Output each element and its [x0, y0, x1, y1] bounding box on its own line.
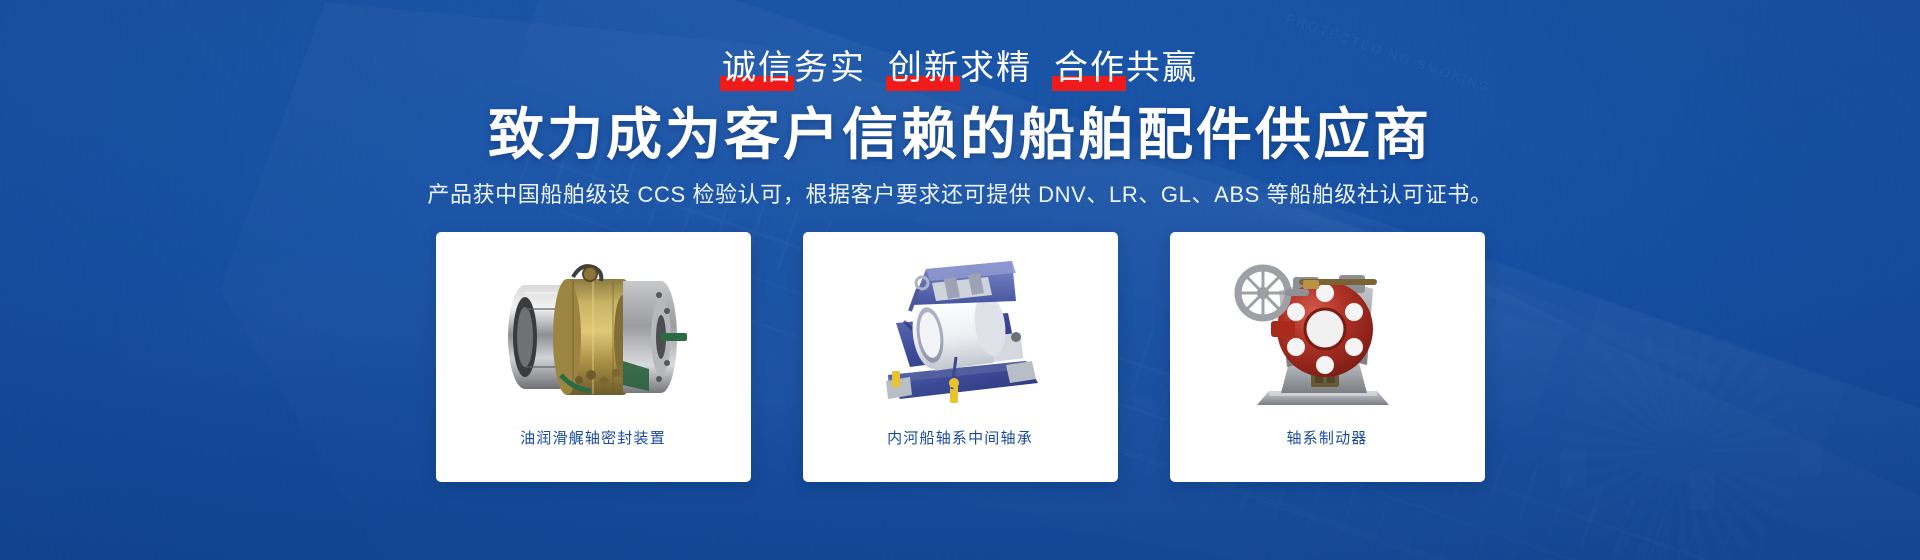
product-image-stern-seal [446, 244, 741, 422]
intermediate-bearing-illustration [840, 249, 1080, 417]
hero-banner: PROTECTED NO SMOKING 诚信务实 创新求精 合作共赢 致力成为… [0, 0, 1920, 560]
product-image-shaft-brake [1180, 244, 1475, 422]
tagline-segment-3-text: 合作共赢 [1054, 49, 1198, 87]
tagline-segment-1: 诚信务实 [722, 48, 866, 88]
product-image-intermediate-bearing [813, 244, 1108, 422]
shaft-brake-illustration [1207, 249, 1447, 417]
tagline: 诚信务实 创新求精 合作共赢 [722, 48, 1198, 88]
product-card-label: 油润滑艉轴密封装置 [520, 428, 666, 450]
tagline-segment-2: 创新求精 [888, 48, 1032, 88]
product-card-label: 内河船轴系中间轴承 [887, 428, 1033, 450]
page-title: 致力成为客户信赖的船舶配件供应商 [488, 102, 1432, 168]
tagline-segment-3: 合作共赢 [1054, 48, 1198, 88]
banner-subtitle: 产品获中国船舶级设 CCS 检验认可，根据客户要求还可提供 DNV、LR、GL、… [427, 180, 1492, 210]
banner-content: 诚信务实 创新求精 合作共赢 致力成为客户信赖的船舶配件供应商 产品获中国船舶级… [0, 0, 1920, 560]
tagline-segment-1-text: 诚信务实 [722, 49, 866, 87]
product-card-label: 轴系制动器 [1286, 428, 1367, 450]
tagline-segment-2-text: 创新求精 [888, 49, 1032, 87]
product-card-list: 油润滑艉轴密封装置 [436, 232, 1485, 482]
stern-seal-illustration [473, 249, 713, 417]
product-card[interactable]: 轴系制动器 [1170, 232, 1485, 482]
product-card[interactable]: 内河船轴系中间轴承 [803, 232, 1118, 482]
product-card[interactable]: 油润滑艉轴密封装置 [436, 232, 751, 482]
